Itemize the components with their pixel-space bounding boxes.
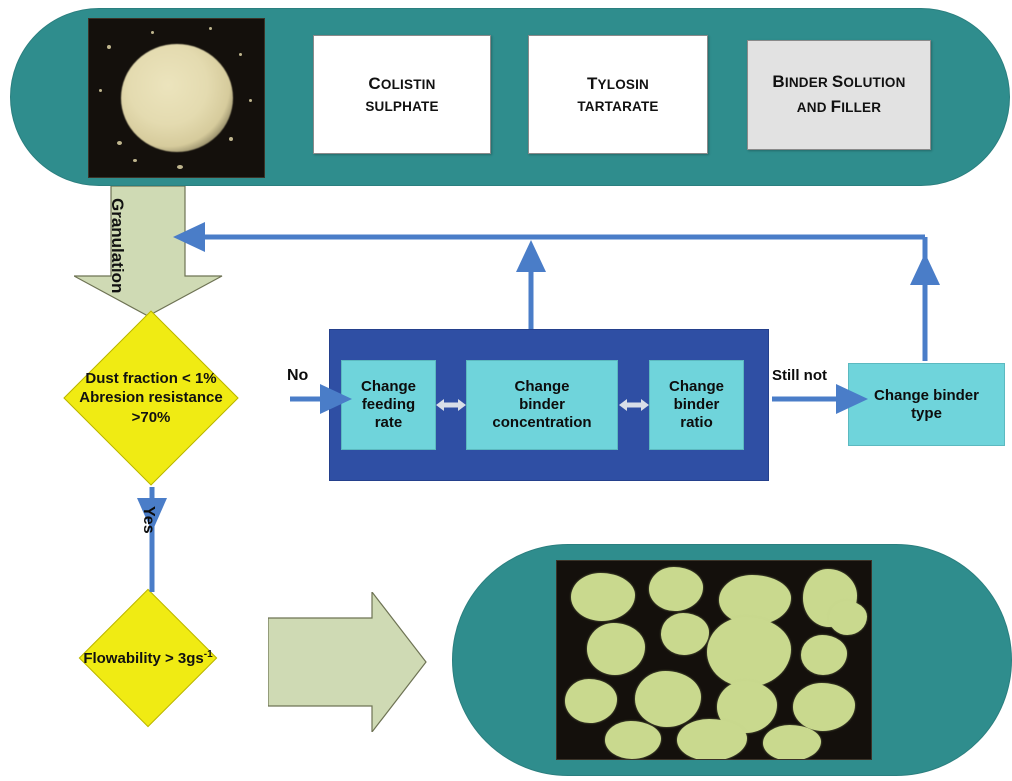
action-change-binder-ratio[interactable]: Change binder ratio	[649, 360, 744, 450]
binder-initial: B	[772, 72, 784, 91]
diamond-shape	[79, 589, 218, 728]
finished-granules-photo	[556, 560, 872, 760]
diamond-shape	[63, 310, 238, 485]
filler-initial: F	[831, 97, 842, 116]
ingredient-box-colistin-sulphate: COLISTIN SULPHATE	[313, 35, 491, 154]
double-arrow-feeding-to-concentration	[436, 397, 466, 413]
binder-type-line-1: Change binder	[874, 387, 979, 404]
action-change-binder-concentration[interactable]: Change binder concentration	[466, 360, 618, 450]
action-change-feeding-rate[interactable]: Change feeding rate	[341, 360, 436, 450]
ingredient-box-binder-solution-and-filler: BINDER SOLUTION AND FILLER	[747, 40, 931, 150]
tylosin-initial: T	[587, 74, 598, 93]
colistin-line2: SULPHATE	[365, 99, 438, 114]
edge-label-yes: Yes	[138, 506, 158, 550]
solution-initial: S	[832, 72, 844, 91]
granulation-block-arrow	[74, 186, 224, 316]
filler-rest: ILLER	[841, 100, 881, 115]
flowchart-canvas: COLISTIN SULPHATE TYLOSIN TARTARATE BIND…	[0, 0, 1012, 781]
concentration-line-1: Change	[514, 378, 569, 395]
edge-label-no: No	[287, 367, 308, 385]
concentration-line-3: concentration	[492, 414, 591, 431]
feeding-line-3: rate	[375, 414, 403, 431]
ingredient-box-tylosin-tartarate: TYLOSIN TARTARATE	[528, 35, 708, 154]
binder-line2-pre: AND	[797, 100, 831, 115]
action-change-binder-type[interactable]: Change binder type	[848, 363, 1005, 446]
ratio-line-1: Change	[669, 378, 724, 395]
ratio-line-2: binder	[674, 396, 720, 413]
double-arrow-concentration-to-ratio	[619, 397, 649, 413]
ratio-line-3: ratio	[680, 414, 713, 431]
solution-rest: OLUTION	[843, 75, 905, 90]
raw-powder-photo	[88, 18, 265, 178]
feeding-line-1: Change	[361, 378, 416, 395]
output-block-arrow	[268, 592, 428, 732]
colistin-initial: C	[368, 74, 380, 93]
tylosin-rest: YLOSIN	[598, 77, 649, 92]
edge-label-still-not: Still not	[772, 367, 827, 384]
granulation-label: Granulation	[106, 198, 128, 308]
binder-type-line-2: type	[911, 405, 942, 422]
concentration-line-2: binder	[519, 396, 565, 413]
decision-dust-fraction: Dust fraction < 1% Abresion resistance >…	[18, 310, 284, 486]
powder-blob	[121, 44, 233, 152]
feeding-line-2: feeding	[362, 396, 415, 413]
colistin-rest: OLISTIN	[381, 77, 436, 92]
binder-rest: INDER	[785, 75, 828, 90]
tylosin-line2: TARTARATE	[577, 99, 658, 114]
decision-flowability: Flowability > 3gs-1	[18, 588, 278, 728]
